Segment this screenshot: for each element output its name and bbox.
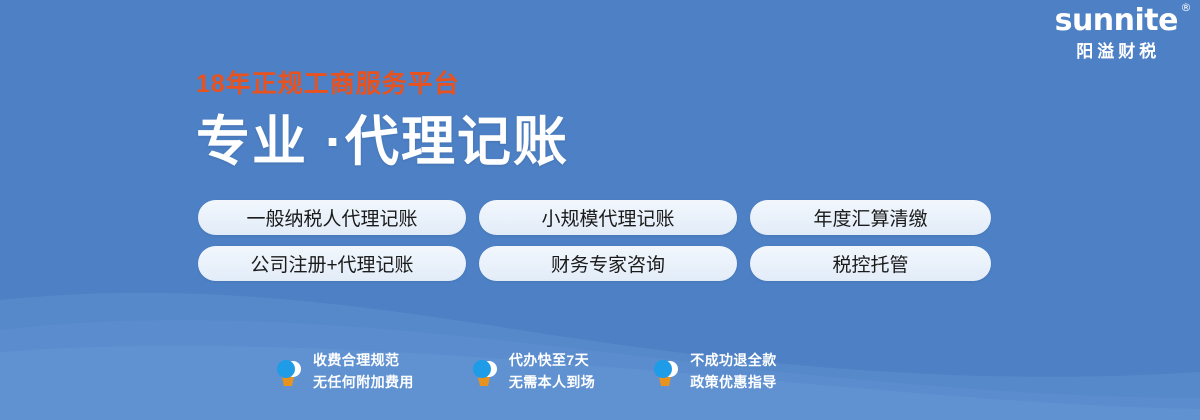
feature-item-pricing-text: 收费合理规范 无任何附加费用 — [313, 350, 414, 393]
service-pill-row-1: 一般纳税人代理记账 小规模代理记账 年度汇算清缴 — [198, 200, 991, 235]
feature-line-1: 代办快至7天 — [509, 350, 595, 372]
feature-item-speed-text: 代办快至7天 无需本人到场 — [509, 350, 595, 393]
promo-banner: sunnite ® 阳溢财税 18年正规工商服务平台 专业 ·代理记账 一般纳税… — [0, 0, 1200, 420]
service-pill-annual-settlement[interactable]: 年度汇算清缴 — [750, 200, 991, 235]
page-title: 专业 ·代理记账 — [196, 113, 569, 172]
feature-line-1: 不成功退全款 — [690, 350, 776, 372]
eyebrow-text: 18年正规工商服务平台 — [196, 72, 569, 97]
feature-line-1: 收费合理规范 — [313, 350, 414, 372]
logo-wordmark: sunnite ® — [1055, 6, 1178, 36]
feature-item-pricing: 收费合理规范 无任何附加费用 — [274, 350, 414, 393]
feature-list: 收费合理规范 无任何附加费用 代办快至7天 无需本人到场 不成功退全款 — [274, 350, 777, 393]
feature-item-speed: 代办快至7天 无需本人到场 — [470, 350, 595, 393]
service-pill-finance-consulting[interactable]: 财务专家咨询 — [479, 246, 737, 281]
feature-line-2: 无任何附加费用 — [313, 372, 414, 394]
brand-logo: sunnite ® 阳溢财税 — [1055, 6, 1178, 60]
logo-subtitle: 阳溢财税 — [1055, 43, 1178, 60]
service-pill-group: 一般纳税人代理记账 小规模代理记账 年度汇算清缴 公司注册+代理记账 财务专家咨… — [198, 200, 991, 292]
feature-item-guarantee: 不成功退全款 政策优惠指导 — [651, 350, 776, 393]
registered-trademark-icon: ® — [1181, 2, 1192, 13]
circle-crescent-icon — [274, 356, 304, 388]
service-pill-company-registration[interactable]: 公司注册+代理记账 — [198, 246, 466, 281]
feature-line-2: 无需本人到场 — [509, 372, 595, 394]
service-pill-small-scale[interactable]: 小规模代理记账 — [479, 200, 737, 235]
feature-line-2: 政策优惠指导 — [690, 372, 776, 394]
service-pill-row-2: 公司注册+代理记账 财务专家咨询 税控托管 — [198, 246, 991, 281]
circle-crescent-icon — [651, 356, 681, 388]
headline-block: 18年正规工商服务平台 专业 ·代理记账 — [196, 72, 569, 172]
service-pill-tax-control-hosting[interactable]: 税控托管 — [750, 246, 991, 281]
circle-crescent-icon — [470, 356, 500, 388]
feature-item-guarantee-text: 不成功退全款 政策优惠指导 — [690, 350, 776, 393]
service-pill-general-taxpayer[interactable]: 一般纳税人代理记账 — [198, 200, 466, 235]
logo-wordmark-text: sunnite — [1055, 3, 1178, 38]
